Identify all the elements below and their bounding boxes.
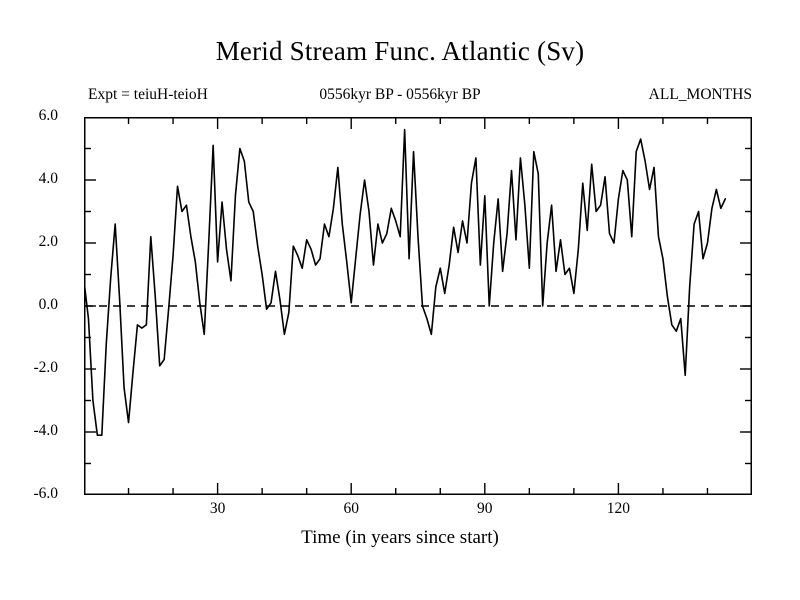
- data-series-line: [84, 130, 725, 436]
- x-tick-label: 120: [588, 500, 648, 518]
- y-tick-label: 4.0: [0, 170, 58, 188]
- chart-canvas: Merid Stream Func. Atlantic (Sv) Expt = …: [0, 0, 800, 600]
- y-tick-label: -6.0: [0, 485, 58, 503]
- y-tick-label: 6.0: [0, 107, 58, 125]
- y-tick-label: -2.0: [0, 359, 58, 377]
- y-tick-label: -4.0: [0, 422, 58, 440]
- x-tick-label: 90: [455, 500, 515, 518]
- x-tick-label: 30: [188, 500, 248, 518]
- months-label: ALL_MONTHS: [649, 86, 752, 104]
- x-tick-label: 60: [321, 500, 381, 518]
- x-axis-title: Time (in years since start): [0, 527, 800, 549]
- y-tick-label: 2.0: [0, 233, 58, 251]
- chart-title: Merid Stream Func. Atlantic (Sv): [0, 36, 800, 67]
- series-plot: [84, 117, 752, 495]
- y-tick-label: 0.0: [0, 296, 58, 314]
- plot-area: [84, 117, 752, 495]
